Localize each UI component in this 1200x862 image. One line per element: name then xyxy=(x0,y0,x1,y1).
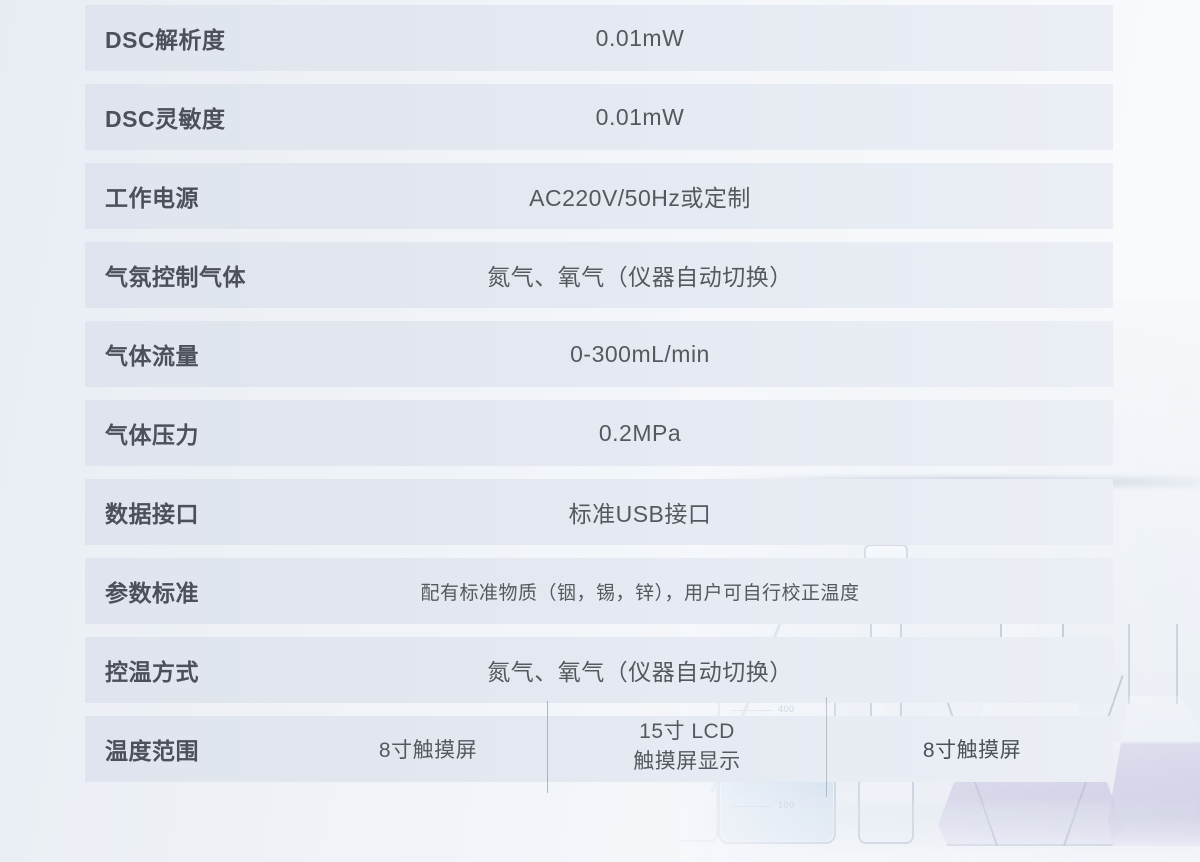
flask-partial-neck xyxy=(1128,624,1178,704)
spec-value: 0-300mL/min xyxy=(355,341,1113,368)
spec-value: 氮气、氧气（仪器自动切换） xyxy=(355,653,1113,687)
spec-label: 数据接口 xyxy=(85,495,355,529)
spec-label: DSC解析度 xyxy=(85,21,355,55)
table-row: 气体流量 0-300mL/min xyxy=(85,321,1113,387)
table-row: 参数标准 配有标准物质（铟，锡，锌），用户可自行校正温度 xyxy=(85,558,1113,624)
spec-label: 气氛控制气体 xyxy=(85,258,355,292)
display-option-8inch-right: 8寸触摸屏 xyxy=(831,734,1113,764)
table-row: 气氛控制气体 氮气、氧气（仪器自动切换） xyxy=(85,242,1113,308)
spec-value: 0.01mW xyxy=(355,104,1113,131)
table-row: 工作电源 AC220V/50Hz或定制 xyxy=(85,163,1113,229)
table-row: 数据接口 标准USB接口 xyxy=(85,479,1113,545)
spec-value: 0.2MPa xyxy=(355,420,1113,447)
display-option-15inch-lcd: 15寸 LCD 触摸屏显示 xyxy=(552,717,822,777)
column-divider xyxy=(826,697,827,797)
spec-label: 温度范围 xyxy=(85,732,313,766)
display-option-line2: 触摸屏显示 xyxy=(552,747,822,777)
spec-value: 0.01mW xyxy=(355,25,1113,52)
spec-value: 氮气、氧气（仪器自动切换） xyxy=(355,258,1113,292)
spec-label: 参数标准 xyxy=(85,574,355,608)
spec-value: AC220V/50Hz或定制 xyxy=(355,179,1113,213)
table-row: DSC解析度 0.01mW xyxy=(85,5,1113,71)
specification-table: DSC解析度 0.01mW DSC灵敏度 0.01mW 工作电源 AC220V/… xyxy=(85,5,1113,795)
table-row-display-options: 温度范围 8寸触摸屏 15寸 LCD 触摸屏显示 8寸触摸屏 xyxy=(85,716,1113,782)
table-row: 控温方式 氮气、氧气（仪器自动切换） xyxy=(85,637,1113,703)
table-row: DSC灵敏度 0.01mW xyxy=(85,84,1113,150)
spec-label: 气体流量 xyxy=(85,337,355,371)
flask-partial-body xyxy=(1108,696,1200,846)
beaker-graduation-label: 100 xyxy=(778,800,795,810)
erlenmeyer-flask-partial-icon xyxy=(1108,616,1200,846)
table-row: 气体压力 0.2MPa xyxy=(85,400,1113,466)
photo-bench-reflection xyxy=(700,804,1200,862)
spec-label: 控温方式 xyxy=(85,653,355,687)
column-divider xyxy=(547,701,548,793)
spec-label: 气体压力 xyxy=(85,416,355,450)
display-option-line1: 15寸 LCD xyxy=(639,720,735,743)
spec-value: 配有标准物质（铟，锡，锌），用户可自行校正温度 xyxy=(355,578,1113,605)
spec-label: 工作电源 xyxy=(85,179,355,213)
spec-value: 标准USB接口 xyxy=(355,495,1113,529)
spec-sheet-page: 500 400 300 200 100 500 ml xyxy=(0,0,1200,862)
beaker-graduation-mark xyxy=(730,806,772,807)
display-option-8inch-left: 8寸触摸屏 xyxy=(313,734,543,764)
spec-label: DSC灵敏度 xyxy=(85,100,355,134)
